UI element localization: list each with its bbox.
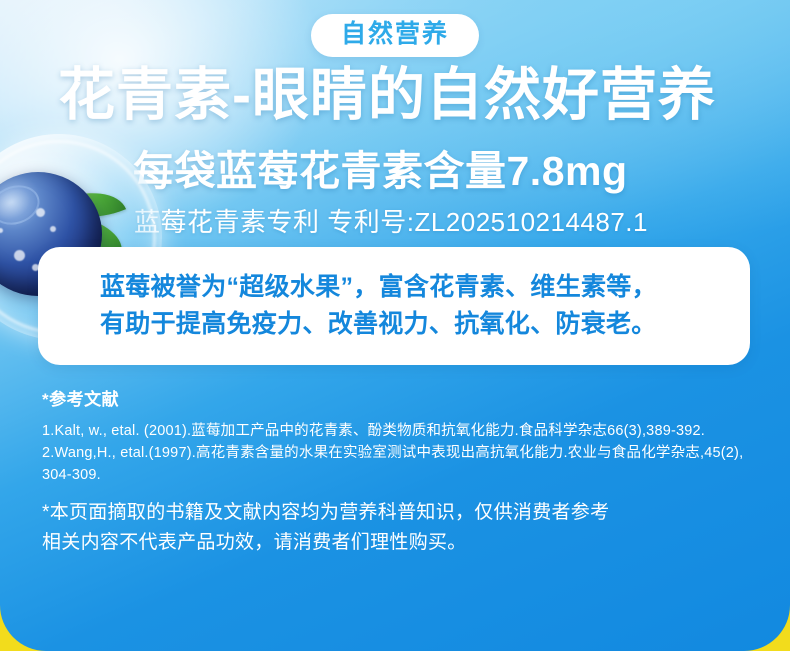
benefit-card-line-2: 有助于提高免疫力、改善视力、抗氧化、防衰老。	[100, 306, 730, 343]
leaf-icon	[56, 178, 126, 233]
page-title: 花青素-眼睛的自然好营养	[58, 62, 758, 128]
natural-nutrition-badge: 自然营养	[311, 14, 479, 57]
disclaimer-section: *本页面摘取的书籍及文献内容均为营养科普知识，仅供消费者参考 相关内容不代表产品…	[42, 498, 762, 558]
disclaimer-line-1: *本页面摘取的书籍及文献内容均为营养科普知识，仅供消费者参考	[42, 498, 762, 528]
reference-item: 2.Wang,H., etal.(1997).高花青素含量的水果在实验室测试中表…	[42, 442, 762, 486]
water-drop-icon	[0, 228, 3, 233]
badge-label: 自然营养	[341, 20, 449, 49]
references-title: *参考文献	[42, 388, 762, 412]
disclaimer-line-2: 相关内容不代表产品功效，请消费者们理性购买。	[42, 528, 762, 558]
benefit-card-line-1: 蓝莓被誉为“超级水果”，富含花青素、维生素等，	[100, 269, 730, 306]
water-drop-icon	[14, 250, 25, 261]
benefit-card: 蓝莓被誉为“超级水果”，富含花青素、维生素等， 有助于提高免疫力、改善视力、抗氧…	[38, 247, 750, 365]
patent-number-text: 蓝莓花青素专利 专利号:ZL202510214487.1	[134, 205, 790, 239]
water-drop-icon	[50, 226, 56, 232]
water-drop-icon	[36, 208, 45, 217]
reference-item: 1.Kalt, w., etal. (2001).蓝莓加工产品中的花青素、酚类物…	[42, 420, 762, 442]
blueberry-crown	[0, 179, 45, 231]
promo-poster: 自然营养 花青素-眼睛的自然好营养 每袋蓝莓花青素含量7.8mg 蓝莓花青素专利…	[0, 0, 790, 651]
hero-subtitle: 每袋蓝莓花青素含量7.8mg	[133, 146, 790, 196]
references-section: *参考文献 1.Kalt, w., etal. (2001).蓝莓加工产品中的花…	[42, 388, 762, 486]
